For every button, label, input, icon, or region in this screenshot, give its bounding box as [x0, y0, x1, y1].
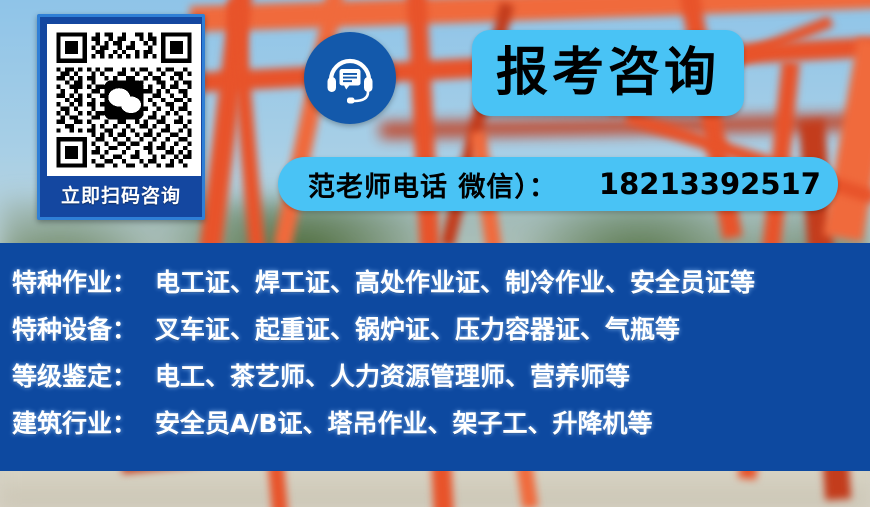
category-row: 特种设备： 叉车证、起重证、锅炉证、压力容器证、气瓶等 — [0, 310, 870, 357]
category-value: 电工证、焊工证、高处作业证、制冷作业、安全员证等 — [155, 263, 755, 299]
category-label: 特种设备： — [12, 310, 137, 346]
qr-card-label: 立即扫码咨询 — [47, 176, 195, 218]
headset-support-badge[interactable] — [304, 32, 396, 124]
qr-code-box — [47, 24, 201, 176]
contact-badge[interactable]: 范老师电话 微信）： 18213392517 — [278, 157, 838, 211]
category-list-panel: 特种作业： 电工证、焊工证、高处作业证、制冷作业、安全员证等 特种设备： 叉车证… — [0, 243, 870, 471]
category-value: 叉车证、起重证、锅炉证、压力容器证、气瓶等 — [155, 310, 680, 346]
page-title: 报考咨询 — [496, 47, 720, 99]
contact-phone-number: 18213392517 — [599, 167, 821, 201]
headset-support-icon — [322, 50, 378, 106]
category-value: 安全员A/B证、塔吊作业、架子工、升降机等 — [155, 404, 653, 440]
contact-label: 范老师电话 微信）： — [308, 165, 557, 204]
category-label: 特种作业： — [12, 263, 137, 299]
category-row: 等级鉴定： 电工、茶艺师、人力资源管理师、营养师等 — [0, 357, 870, 404]
category-value: 电工、茶艺师、人力资源管理师、营养师等 — [155, 357, 630, 393]
poster-root: 立即扫码咨询 报考咨询 范老师电话 微信）： 18213392517 特种 — [0, 0, 870, 507]
qr-code-card[interactable]: 立即扫码咨询 — [37, 14, 205, 220]
qr-code-icon — [52, 28, 196, 172]
category-row: 特种作业： 电工证、焊工证、高处作业证、制冷作业、安全员证等 — [0, 243, 870, 310]
category-label: 建筑行业： — [12, 404, 137, 440]
category-row: 建筑行业： 安全员A/B证、塔吊作业、架子工、升降机等 — [0, 404, 870, 451]
title-badge: 报考咨询 — [472, 30, 744, 116]
category-label: 等级鉴定： — [12, 357, 137, 393]
